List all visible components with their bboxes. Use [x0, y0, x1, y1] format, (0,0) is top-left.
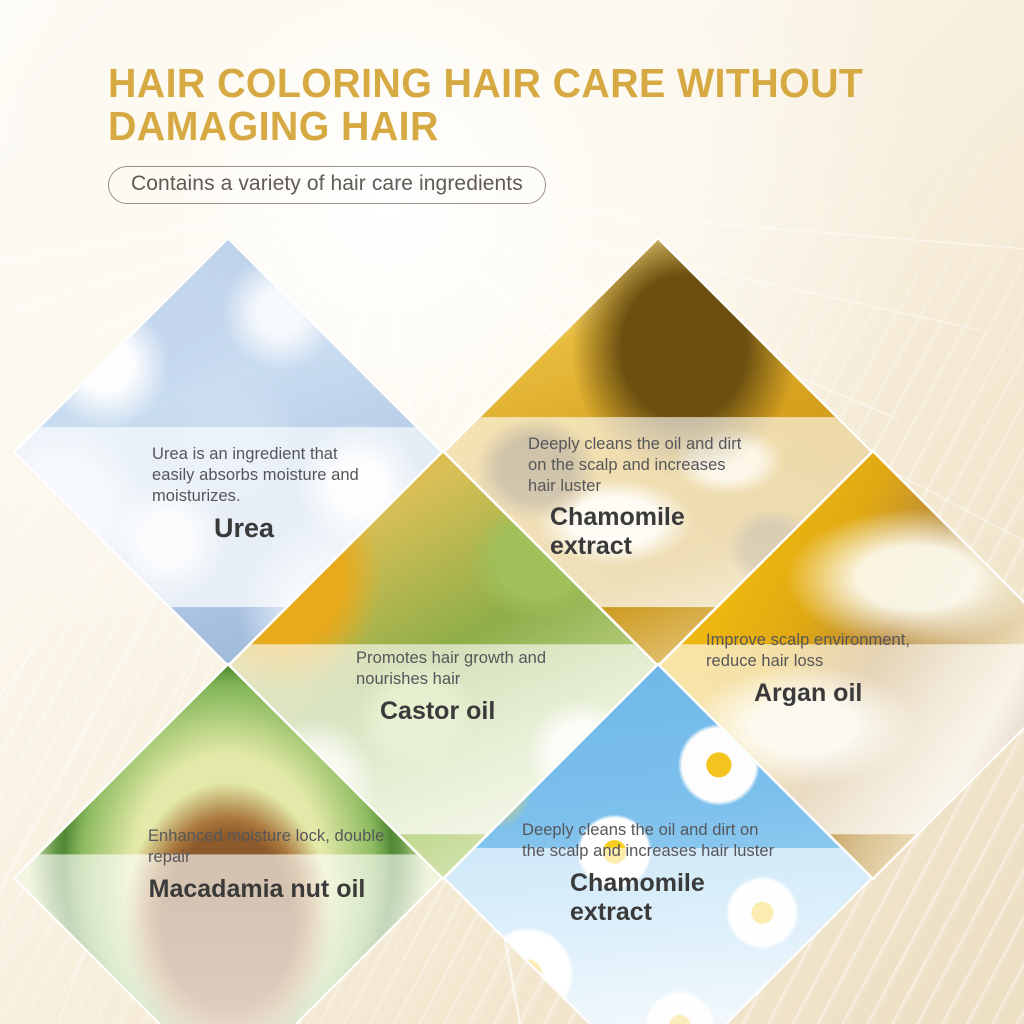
ingredient-description: Improve scalp environment, reduce hair l… — [706, 630, 951, 672]
infographic-poster: HAIR COLORING HAIR CARE WITHOUT DAMAGING… — [0, 0, 1024, 1024]
ingredient-description: Deeply cleans the oil and dirt on the sc… — [528, 434, 753, 496]
ingredient-name: Chamomile extract — [528, 503, 753, 561]
ingredient-name: Urea — [152, 513, 382, 544]
ingredient-description: Enhanced moisture lock, double repair — [148, 826, 388, 868]
caption-castor-oil: Promotes hair growth and nourishes hair … — [356, 648, 566, 726]
ingredient-name: Argan oil — [706, 679, 951, 708]
ingredient-description: Urea is an ingredient that easily absorb… — [152, 444, 382, 506]
caption-chamomile-extract-bottom: Deeply cleans the oil and dirt on the sc… — [522, 820, 777, 927]
caption-urea: Urea is an ingredient that easily absorb… — [152, 444, 382, 545]
ingredient-name: Castor oil — [356, 697, 566, 726]
ingredient-name: Chamomile extract — [522, 869, 777, 927]
ingredient-description: Promotes hair growth and nourishes hair — [356, 648, 566, 690]
caption-chamomile-extract-top: Deeply cleans the oil and dirt on the sc… — [528, 434, 753, 561]
caption-argan-oil: Improve scalp environment, reduce hair l… — [706, 630, 951, 708]
ingredient-description: Deeply cleans the oil and dirt on the sc… — [522, 820, 777, 862]
caption-macadamia-nut-oil: Enhanced moisture lock, double repair Ma… — [148, 826, 388, 904]
ingredient-name: Macadamia nut oil — [148, 875, 388, 904]
